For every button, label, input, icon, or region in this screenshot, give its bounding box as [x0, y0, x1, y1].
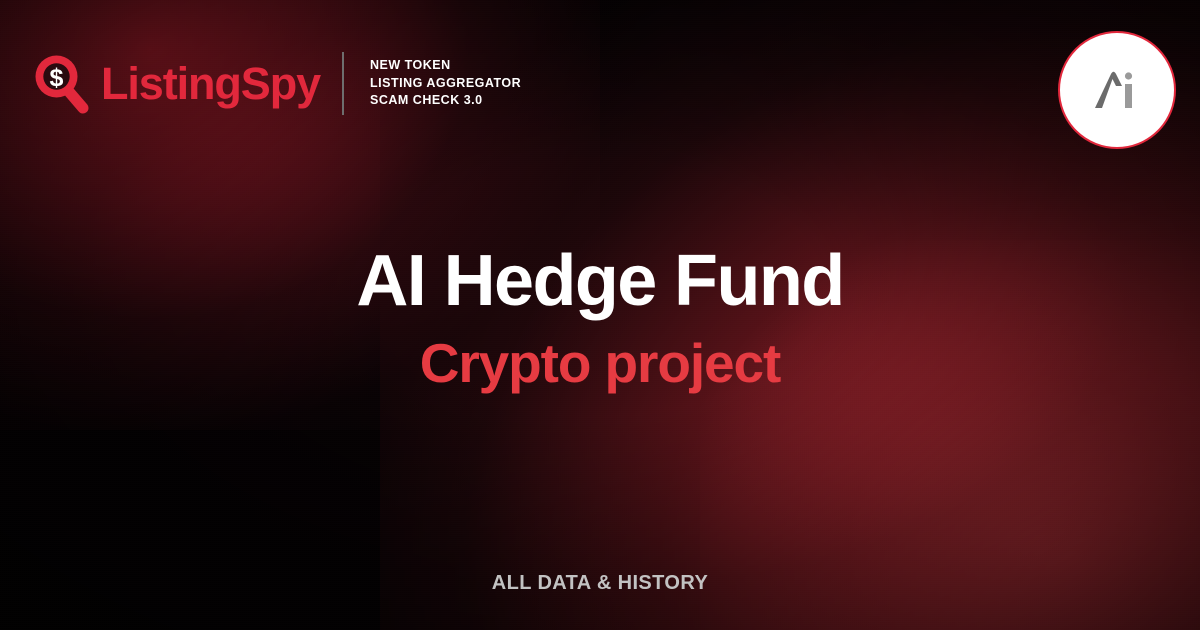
tagline-line-2: LISTING AGGREGATOR [370, 75, 521, 93]
svg-text:$: $ [50, 64, 64, 92]
ai-monogram-icon [1091, 68, 1143, 112]
brand-lockup[interactable]: $ ListingSpy [34, 54, 320, 114]
headline-block: AI Hedge Fund Crypto project [0, 243, 1200, 394]
footer-caption: ALL DATA & HISTORY [0, 572, 1200, 595]
banner-header: $ ListingSpy NEW TOKEN LISTING AGGREGATO… [34, 52, 521, 115]
ai-project-badge[interactable] [1058, 31, 1176, 149]
brand-name: ListingSpy [101, 61, 320, 106]
page-subtitle: Crypto project [0, 333, 1200, 394]
magnifier-dollar-icon: $ [34, 54, 92, 114]
header-divider [342, 52, 344, 115]
tagline-line-3: SCAM CHECK 3.0 [370, 92, 521, 110]
tagline-line-1: NEW TOKEN [370, 57, 521, 75]
page-title: AI Hedge Fund [0, 243, 1200, 319]
brand-tagline: NEW TOKEN LISTING AGGREGATOR SCAM CHECK … [370, 57, 521, 110]
promo-banner: $ ListingSpy NEW TOKEN LISTING AGGREGATO… [0, 0, 1200, 630]
